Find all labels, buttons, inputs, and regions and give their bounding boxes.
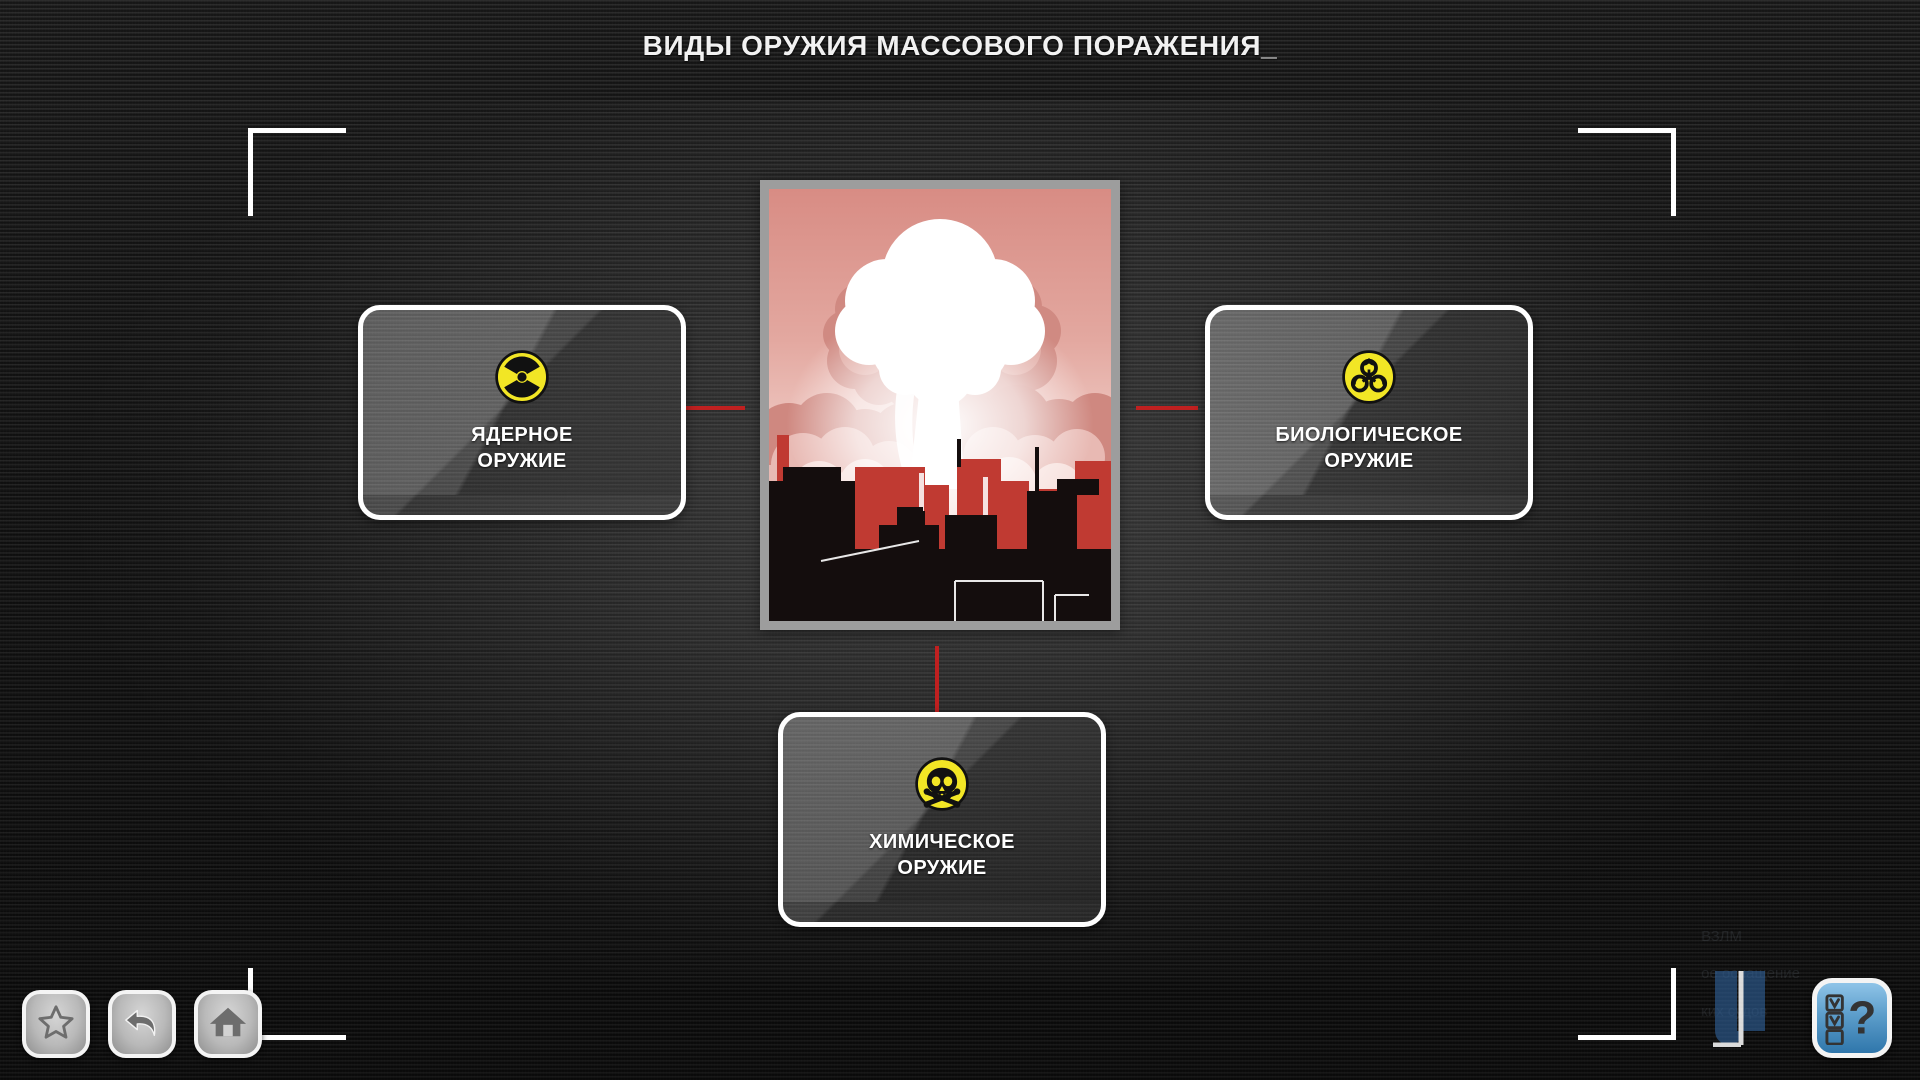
corner-bracket-bottom-left bbox=[248, 968, 346, 1040]
question-mark-icon: ? bbox=[1823, 991, 1881, 1045]
node-label-biological-line2: ОРУЖИЕ bbox=[1324, 450, 1413, 472]
back-arrow-icon bbox=[122, 1003, 162, 1046]
node-card-biological[interactable]: БИОЛОГИЧЕСКОЕ ОРУЖИЕ bbox=[1205, 305, 1533, 520]
nuclear-explosion-illustration[interactable] bbox=[760, 180, 1120, 630]
home-icon bbox=[208, 1003, 248, 1046]
connector-right bbox=[1136, 406, 1198, 410]
star-icon bbox=[37, 1003, 75, 1046]
help-button[interactable]: ? bbox=[1812, 978, 1892, 1058]
svg-text:?: ? bbox=[1848, 991, 1876, 1043]
page-title: ВИДЫ ОРУЖИЯ МАССОВОГО ПОРАЖЕНИЯ_ bbox=[0, 30, 1920, 62]
node-label-biological-line1: БИОЛОГИЧЕСКОЕ bbox=[1275, 424, 1462, 446]
corner-bracket-top-left bbox=[248, 128, 346, 216]
radiation-trefoil-icon bbox=[495, 350, 549, 409]
node-label-nuclear-line1: ЯДЕРНОЕ bbox=[471, 424, 572, 446]
corner-bracket-top-right bbox=[1578, 128, 1676, 216]
favorite-button[interactable] bbox=[22, 990, 90, 1058]
connector-left bbox=[683, 406, 745, 410]
node-label-nuclear: ЯДЕРНОЕ ОРУЖИЕ bbox=[471, 423, 572, 474]
connector-bottom bbox=[935, 646, 939, 712]
home-button[interactable] bbox=[194, 990, 262, 1058]
biohazard-icon bbox=[1342, 350, 1396, 409]
corner-bracket-bottom-right bbox=[1578, 968, 1676, 1040]
brand-logo-icon bbox=[1713, 971, 1775, 1052]
node-label-chemical-line1: ХИМИЧЕСКОЕ bbox=[869, 831, 1015, 853]
node-label-biological: БИОЛОГИЧЕСКОЕ ОРУЖИЕ bbox=[1275, 423, 1462, 474]
illustration-canvas bbox=[769, 189, 1111, 621]
skull-crossbones-icon bbox=[915, 757, 969, 816]
back-button[interactable] bbox=[108, 990, 176, 1058]
node-label-chemical-line2: ОРУЖИЕ bbox=[897, 857, 986, 879]
node-card-nuclear[interactable]: ЯДЕРНОЕ ОРУЖИЕ bbox=[358, 305, 686, 520]
node-label-nuclear-line2: ОРУЖИЕ bbox=[477, 450, 566, 472]
node-label-chemical: ХИМИЧЕСКОЕ ОРУЖИЕ bbox=[869, 830, 1015, 881]
node-card-chemical[interactable]: ХИМИЧЕСКОЕ ОРУЖИЕ bbox=[778, 712, 1106, 927]
